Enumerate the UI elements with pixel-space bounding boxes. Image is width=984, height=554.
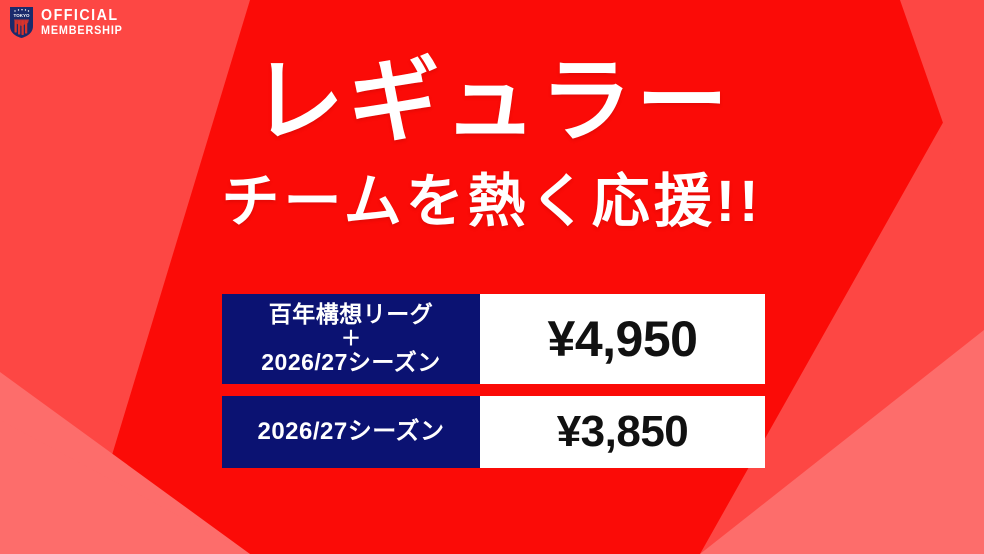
svg-text:TOKYO: TOKYO bbox=[14, 13, 30, 18]
badge-label-membership: MEMBERSHIP bbox=[41, 26, 123, 38]
plan-label-plus-sign: ＋ bbox=[341, 329, 361, 349]
plan-label-line-3: 2026/27シーズン bbox=[261, 350, 441, 376]
plan-label-line-1: 百年構想リーグ bbox=[269, 302, 434, 328]
price-row-label-plan-1: 百年構想リーグ ＋ 2026/27シーズン bbox=[222, 294, 480, 384]
headline-block: レギュラー チームを熱く応援!! bbox=[0, 56, 984, 233]
price-row-label-plan-2: 2026/27シーズン bbox=[222, 396, 480, 468]
price-table: 百年構想リーグ ＋ 2026/27シーズン ¥4,950 2026/27シーズン… bbox=[222, 294, 765, 468]
badge-text-block: OFFICIAL MEMBERSHIP bbox=[41, 8, 128, 38]
badge-label-official: OFFICIAL bbox=[41, 8, 121, 24]
table-row: 百年構想リーグ ＋ 2026/27シーズン ¥4,950 bbox=[222, 294, 765, 384]
price-value-plan-1: ¥4,950 bbox=[480, 294, 765, 384]
table-row: 2026/27シーズン ¥3,850 bbox=[222, 396, 765, 468]
page-subtitle: チームを熱く応援!! bbox=[0, 172, 984, 233]
tokyo-shield-crest-icon: TOKYO bbox=[9, 6, 34, 39]
membership-price-banner: TOKYO OFFICIAL MEMBERSHIP レギュラー チームを熱く応援… bbox=[0, 0, 984, 554]
page-title: レギュラー bbox=[0, 56, 984, 150]
official-membership-badge: TOKYO OFFICIAL MEMBERSHIP bbox=[9, 6, 128, 39]
plan-label-line-1: 2026/27シーズン bbox=[257, 419, 444, 446]
price-value-plan-2: ¥3,850 bbox=[480, 396, 765, 468]
